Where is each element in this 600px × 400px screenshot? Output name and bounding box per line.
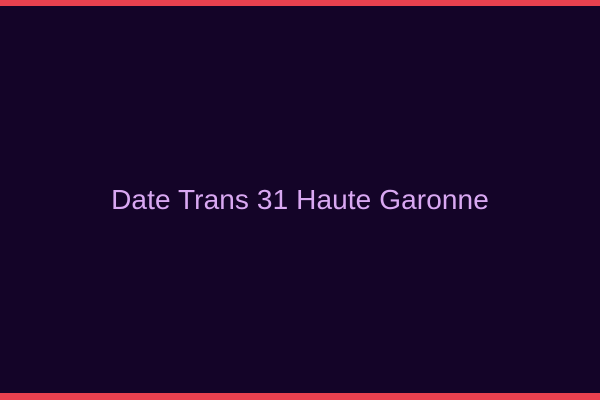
banner-caption-text: Date Trans 31 Haute Garonne — [111, 186, 489, 214]
bottom-accent-rule — [0, 393, 600, 400]
top-accent-rule — [0, 0, 600, 6]
placeholder-banner: Date Trans 31 Haute Garonne — [0, 0, 600, 400]
